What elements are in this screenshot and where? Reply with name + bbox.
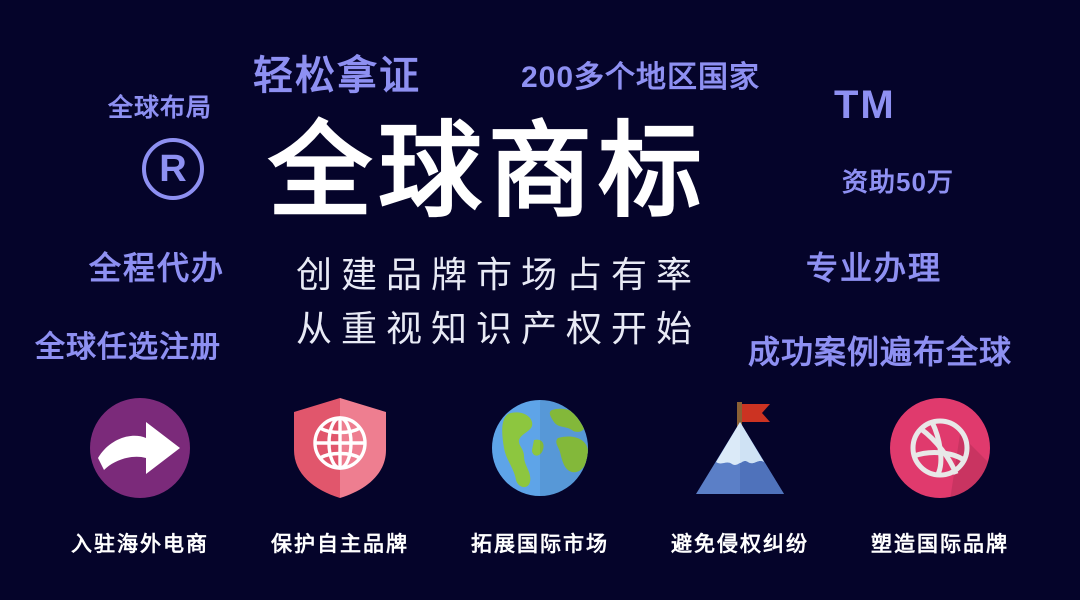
feature-label: 塑造国际品牌 <box>871 528 1009 558</box>
hero-subtitle-line-1: 创建品牌市场占有率 <box>296 246 701 298</box>
tag-global-layout: 全球布局 <box>108 88 212 124</box>
page-title: 全球商标 <box>268 120 708 224</box>
dribbble-ball-icon <box>888 396 992 500</box>
feature-label: 拓展国际市场 <box>471 528 609 558</box>
curved-arrow-icon <box>88 396 192 500</box>
tag-tm-symbol: TM <box>834 83 896 128</box>
feature-label: 保护自主品牌 <box>271 528 409 558</box>
tag-countries-count: 200多个地区国家 <box>521 52 760 96</box>
tag-full-agency: 全程代办 <box>89 243 225 289</box>
tag-register-anywhere: 全球任选注册 <box>35 322 221 366</box>
feature-label: 避免侵权纠纷 <box>671 528 809 558</box>
feature-item-expand-markets[interactable]: 拓展国际市场 <box>440 396 640 558</box>
hero-subtitle-line-2: 从重视知识产权开始 <box>296 300 701 352</box>
feature-item-build-brand[interactable]: 塑造国际品牌 <box>840 396 1040 558</box>
poster-canvas: 全球布局 轻松拿证 200多个地区国家 TM 资助50万 全程代办 全球任选注册… <box>0 0 1080 600</box>
shield-globe-icon <box>288 396 392 500</box>
feature-item-avoid-infringement[interactable]: 避免侵权纠纷 <box>640 396 840 558</box>
feature-icon-row: 入驻海外电商 <box>0 396 1080 576</box>
feature-item-overseas-ecommerce[interactable]: 入驻海外电商 <box>40 396 240 558</box>
tag-easy-certificate: 轻松拿证 <box>253 43 421 101</box>
earth-globe-icon <box>488 396 592 500</box>
feature-label: 入驻海外电商 <box>71 528 209 558</box>
registered-trademark-icon: R <box>142 138 204 200</box>
tag-success-cases: 成功案例遍布全球 <box>748 327 1012 373</box>
mountain-flag-icon <box>688 396 792 500</box>
tag-subsidy: 资助50万 <box>842 162 954 199</box>
feature-item-protect-brand[interactable]: 保护自主品牌 <box>240 396 440 558</box>
tag-professional: 专业办理 <box>806 243 942 289</box>
